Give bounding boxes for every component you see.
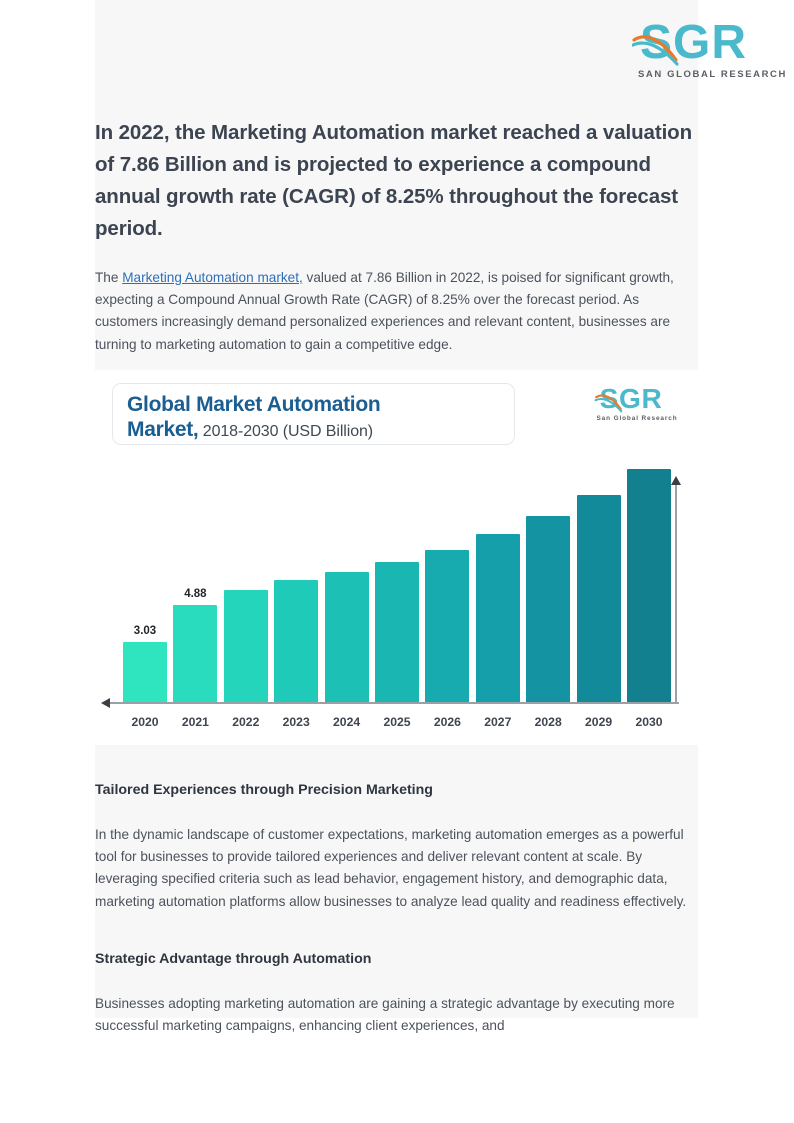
- page-title: In 2022, the Marketing Automation market…: [95, 117, 695, 245]
- bar-value-label-2021: 4.88: [165, 588, 225, 600]
- document-page: SGR SAN GLOBAL RESEARCH In 2022, the Mar…: [0, 0, 794, 1123]
- bar-2024: [325, 572, 369, 703]
- bar-2020: [123, 642, 167, 703]
- bar-2028: [526, 516, 570, 703]
- logo-tagline: SAN GLOBAL RESEARCH: [638, 69, 772, 80]
- section-body-strategic-advantage: Businesses adopting marketing automation…: [95, 993, 699, 1038]
- x-axis-label-2030: 2030: [619, 715, 679, 729]
- bar-2022: [224, 590, 268, 703]
- bar-2027: [476, 534, 520, 703]
- intro-text-before: The: [95, 270, 122, 285]
- marketing-automation-market-link[interactable]: Marketing Automation market,: [122, 270, 303, 285]
- bar-chart-plot: 3.0320204.882021202220232024202520262027…: [95, 370, 698, 745]
- y-axis-arrow-icon: [671, 476, 681, 485]
- section-body-tailored-experiences: In the dynamic landscape of customer exp…: [95, 824, 699, 914]
- bar-2026: [425, 550, 469, 703]
- bars-layer: 3.0320204.882021202220232024202520262027…: [95, 370, 698, 745]
- bar-2023: [274, 580, 318, 703]
- sgr-logo-header: SGR SAN GLOBAL RESEARCH: [632, 14, 772, 82]
- section-heading-tailored-experiences: Tailored Experiences through Precision M…: [95, 782, 699, 798]
- bar-2029: [577, 495, 621, 703]
- svg-text:SGR: SGR: [640, 16, 747, 69]
- section-heading-strategic-advantage: Strategic Advantage through Automation: [95, 951, 699, 967]
- sgr-wordmark-icon: SGR: [632, 14, 772, 72]
- x-axis-line: [107, 702, 679, 704]
- bar-value-label-2020: 3.03: [115, 625, 175, 637]
- bar-2021: [173, 605, 217, 703]
- market-chart-card: Global Market Automation Market, 2018-20…: [95, 370, 698, 745]
- intro-paragraph: The Marketing Automation market, valued …: [95, 267, 699, 357]
- bar-2025: [375, 562, 419, 703]
- bar-2030: [627, 469, 671, 703]
- x-axis-arrow-icon: [101, 698, 110, 708]
- y-axis-line: [675, 482, 677, 704]
